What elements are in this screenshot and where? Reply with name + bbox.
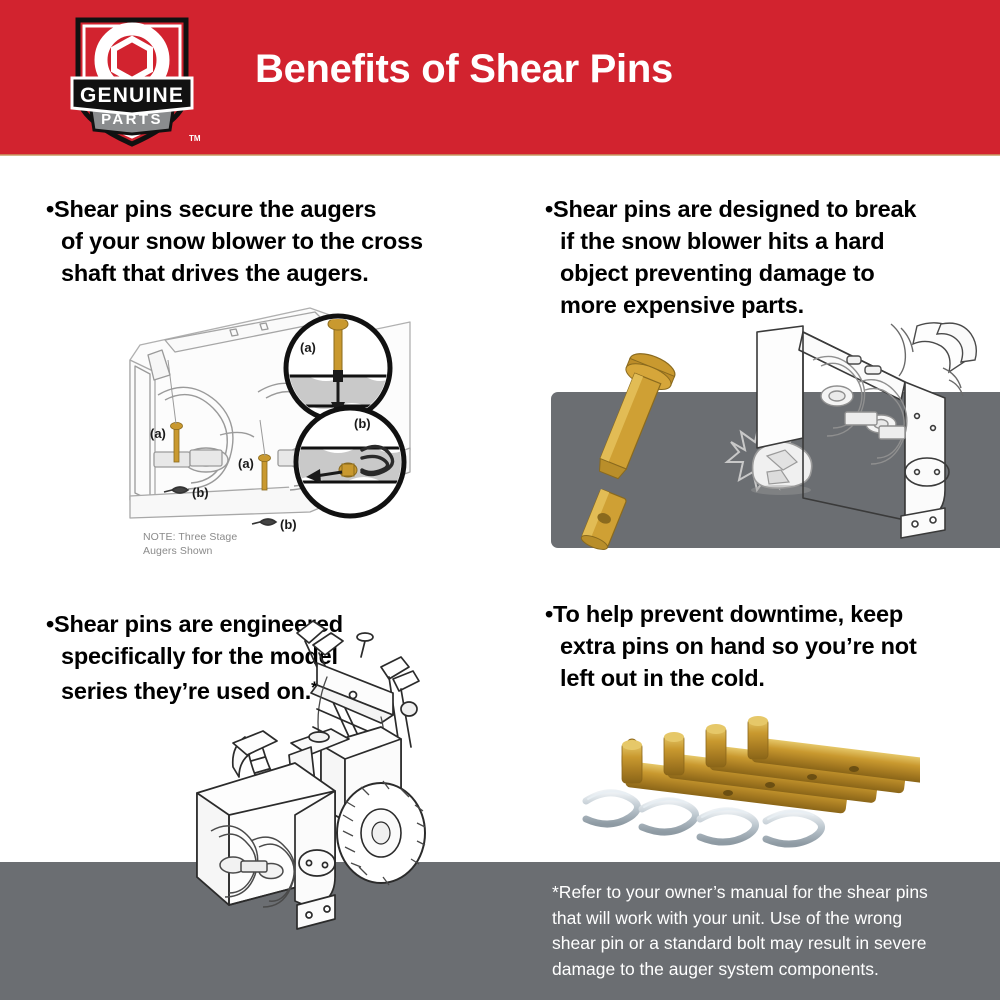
detail-circle-a: (a) bbox=[286, 316, 392, 420]
bullet-4-line-2: extra pins on hand so you’re not bbox=[545, 630, 965, 662]
bullet-item-2: •Shear pins are designed to break if the… bbox=[545, 193, 965, 321]
illustration-spare-pins bbox=[570, 715, 920, 865]
note-line-2: Augers Shown bbox=[143, 545, 237, 559]
callout-a-left: (a) bbox=[150, 426, 166, 441]
callout-b-mid: (b) bbox=[280, 517, 297, 532]
detail-circle-b: (b) bbox=[296, 408, 406, 516]
page-title: Benefits of Shear Pins bbox=[255, 47, 673, 92]
genuine-parts-logo: PARTS GENUINE TM bbox=[62, 8, 202, 150]
footer-line-2: that will work with your unit. Use of th… bbox=[552, 906, 992, 932]
logo-genuine-text: GENUINE bbox=[80, 84, 184, 107]
bullet-item-4: •To help prevent downtime, keep extra pi… bbox=[545, 598, 965, 694]
illustration-note: NOTE: Three Stage Augers Shown bbox=[143, 531, 237, 558]
illustration-broken-pin-scene bbox=[545, 320, 1000, 570]
callout-a-mid: (a) bbox=[238, 456, 254, 471]
bullet-4-line-1: To help prevent downtime, keep bbox=[553, 601, 903, 627]
footer-line-3: shear pin or a standard bolt may result … bbox=[552, 931, 992, 957]
logo-trademark: TM bbox=[189, 134, 201, 143]
footer-line-4: damage to the auger system components. bbox=[552, 957, 992, 983]
broken-shear-pin bbox=[559, 348, 680, 552]
illustration-auger-diagram: (a) (a) (b) (b) (a) bbox=[110, 300, 420, 570]
footer-line-1: *Refer to your owner’s manual for the sh… bbox=[552, 880, 992, 906]
wheel bbox=[337, 781, 425, 885]
bullet-2-line-3: object preventing damage to bbox=[545, 257, 965, 289]
bullet-1-line-2: of your snow blower to the cross bbox=[46, 225, 466, 257]
note-line-1: NOTE: Three Stage bbox=[143, 531, 237, 545]
bullet-1-line-1: Shear pins secure the augers bbox=[54, 196, 376, 222]
callout-b-left: (b) bbox=[192, 485, 209, 500]
illustration-snow-blower bbox=[185, 615, 475, 955]
detail-label-a: (a) bbox=[300, 340, 316, 355]
bullet-marker: • bbox=[46, 196, 54, 222]
bullet-marker: • bbox=[545, 601, 553, 627]
bullet-4-line-3: left out in the cold. bbox=[545, 662, 965, 694]
bullet-2-line-1: Shear pins are designed to break bbox=[553, 196, 916, 222]
bullet-1-line-3: shaft that drives the augers. bbox=[46, 257, 466, 289]
bullet-2-line-4: more expensive parts. bbox=[545, 289, 965, 321]
detail-label-b: (b) bbox=[354, 416, 371, 431]
bullet-marker: • bbox=[545, 196, 553, 222]
header-underline bbox=[0, 154, 1000, 156]
bullet-item-1: •Shear pins secure the augers of your sn… bbox=[46, 193, 466, 289]
footer-disclaimer: *Refer to your owner’s manual for the sh… bbox=[552, 880, 992, 982]
bullet-marker: • bbox=[46, 611, 54, 637]
bullet-2-line-2: if the snow blower hits a hard bbox=[545, 225, 965, 257]
